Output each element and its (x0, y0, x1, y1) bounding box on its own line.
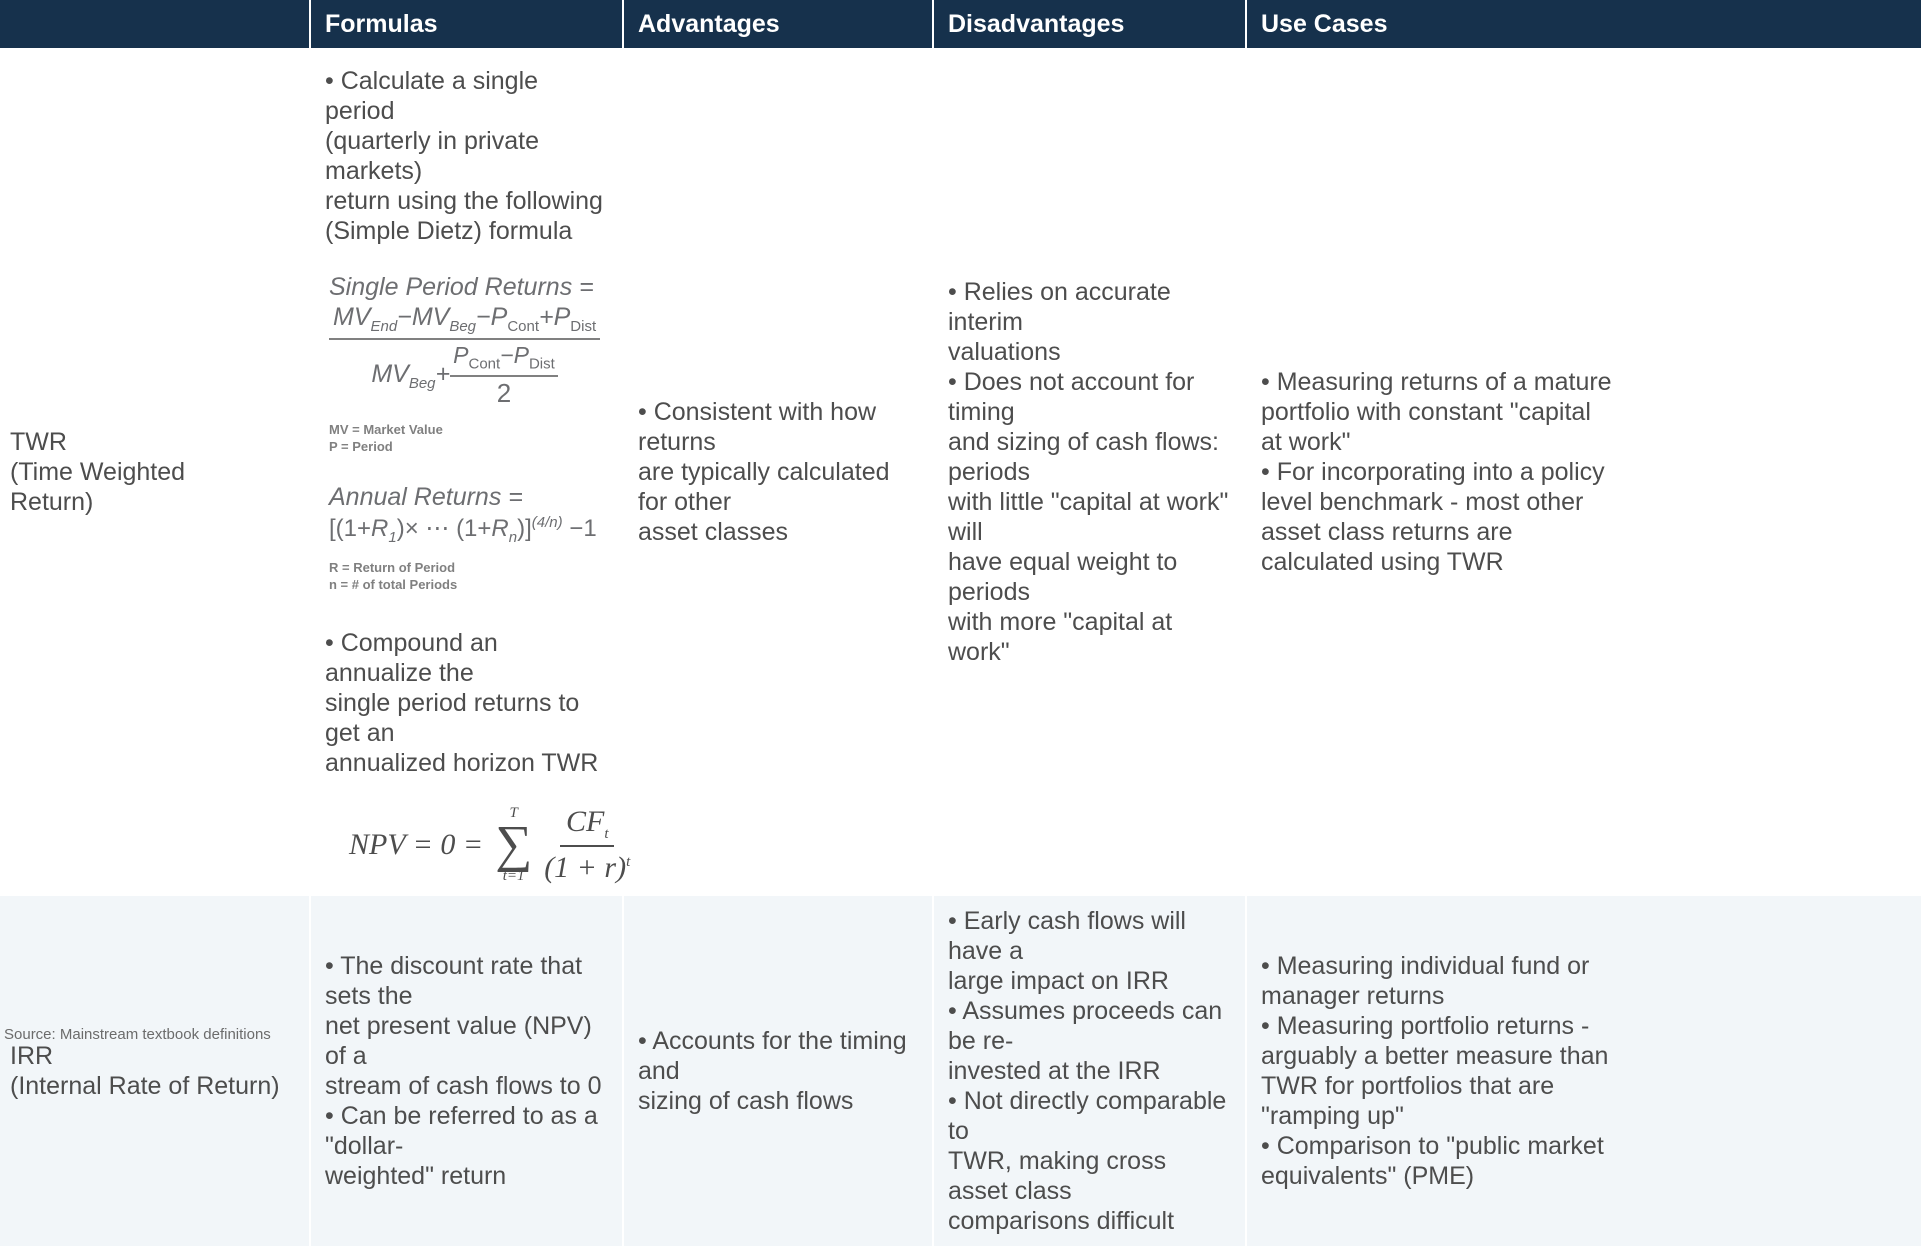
simple-dietz-legend: MV = Market Value P = Period (329, 421, 608, 456)
npv-lead: NPV = 0 = (349, 827, 483, 863)
npv-lower-limit: t=1 (503, 869, 525, 884)
num-plus: + (539, 303, 554, 331)
header-cell-use-cases: Use Cases (1246, 0, 1921, 48)
table-row-twr: TWR (Time Weighted Return) • Calculate a… (0, 48, 1921, 896)
num-minus-2: − (476, 303, 491, 331)
npv-denom-base: (1 + r) (544, 851, 626, 884)
p-cont-sub: Cont (507, 318, 539, 335)
den-plus: + (436, 360, 451, 388)
comparison-table: Formulas Advantages Disadvantages Use Ca… (0, 0, 1921, 1246)
inner-p-dist-base: P (514, 342, 529, 368)
cell-twr-advantages: • Consistent with how returns are typica… (623, 48, 933, 896)
ar-r1-base: R (371, 515, 388, 542)
cell-irr-advantages: • Accounts for the timing and sizing of … (623, 896, 933, 1246)
npv-summation: T ∑ t=1 (495, 806, 532, 884)
simple-dietz-inner-fraction: PCont−PDist 2 (450, 342, 558, 409)
formula-simple-dietz: Single Period Returns = MVEnd−MVBeg−PCon… (329, 272, 608, 456)
row-label-irr: IRR (Internal Rate of Return) (0, 896, 310, 1246)
ar-rn-sub: n (509, 529, 517, 546)
table-row-irr: IRR (Internal Rate of Return) • The disc… (0, 896, 1921, 1246)
cell-twr-formulas: • Calculate a single period (quarterly i… (310, 48, 623, 896)
source-footnote: Source: Mainstream textbook definitions (4, 1026, 271, 1043)
cell-irr-disadvantages: • Early cash flows will have a large imp… (933, 896, 1246, 1246)
annual-returns-expression: [(1+R1)× ⋯ (1+Rn)](4/n) −1 (329, 514, 608, 547)
simple-dietz-numerator: MVEnd−MVBeg−PCont+PDist (329, 302, 600, 340)
inner-minus: − (500, 342, 513, 368)
annual-returns-title: Annual Returns = (329, 482, 608, 512)
ar-open: [(1+ (329, 515, 371, 542)
npv-denominator: (1 + r)t (538, 847, 636, 886)
den-mv-sub: Beg (409, 375, 436, 392)
npv-denom-sup: t (626, 854, 630, 870)
den-mv-base: MV (371, 360, 409, 388)
annual-returns-legend: R = Return of Period n = # of total Peri… (329, 559, 608, 594)
inner-p-cont-base: P (453, 342, 468, 368)
formula-annual-returns: Annual Returns = [(1+R1)× ⋯ (1+Rn)](4/n)… (329, 482, 608, 594)
npv-numerator: CFt (560, 804, 615, 847)
simple-dietz-denominator: MVBeg+ PCont−PDist 2 (329, 340, 600, 409)
cell-twr-use-cases: • Measuring returns of a mature portfoli… (1246, 48, 1921, 896)
ar-r1-sub: 1 (388, 529, 396, 546)
cell-irr-formulas: • The discount rate that sets the net pr… (310, 896, 623, 1246)
p-dist-sub: Dist (570, 318, 596, 335)
slide-root: Formulas Advantages Disadvantages Use Ca… (0, 0, 1921, 1069)
header-cell-advantages: Advantages (623, 0, 933, 48)
simple-dietz-title: Single Period Returns = (329, 272, 608, 302)
num-minus-1: − (397, 303, 412, 331)
header-cell-label (0, 0, 310, 48)
row-label-twr: TWR (Time Weighted Return) (0, 48, 310, 896)
ar-close: )] (517, 515, 532, 542)
ar-mid: )× ⋯ (1+ (397, 515, 492, 542)
twr-formulas-outro: • Compound an annualize the single perio… (325, 628, 608, 778)
mv-end-sub: End (371, 318, 398, 335)
simple-dietz-title-text: Single Period Returns (329, 273, 572, 301)
table-header: Formulas Advantages Disadvantages Use Ca… (0, 0, 1921, 48)
header-cell-disadvantages: Disadvantages (933, 0, 1246, 48)
p-cont-base: P (491, 303, 508, 331)
mv-beg-sub: Beg (449, 318, 476, 335)
table-body: TWR (Time Weighted Return) • Calculate a… (0, 48, 1921, 1246)
inner-denominator: 2 (450, 377, 558, 409)
simple-dietz-equals: = (579, 273, 594, 301)
cell-twr-disadvantages: • Relies on accurate interim valuations … (933, 48, 1246, 896)
p-dist-base: P (554, 303, 571, 331)
sigma-icon: ∑ (495, 821, 532, 869)
header-cell-formulas: Formulas (310, 0, 623, 48)
formula-npv: NPV = 0 = T ∑ t=1 CFt (1 + r)t (349, 804, 608, 886)
ar-tail: −1 (569, 515, 596, 542)
mv-end-base: MV (333, 303, 371, 331)
cell-irr-use-cases: • Measuring individual fund or manager r… (1246, 896, 1921, 1246)
twr-formulas-intro: • Calculate a single period (quarterly i… (325, 66, 608, 246)
npv-cf: CF (566, 805, 604, 838)
simple-dietz-fraction: MVEnd−MVBeg−PCont+PDist MVBeg+ PCont−PDi… (329, 302, 600, 409)
inner-p-dist-sub: Dist (529, 356, 555, 373)
npv-fraction: CFt (1 + r)t (538, 804, 636, 886)
npv-cf-sub: t (604, 826, 608, 842)
ar-rn-base: R (491, 515, 508, 542)
inner-p-cont-sub: Cont (468, 356, 500, 373)
ar-exponent: (4/n) (532, 514, 563, 531)
header-row: Formulas Advantages Disadvantages Use Ca… (0, 0, 1921, 48)
mv-beg-base: MV (412, 303, 450, 331)
inner-numerator: PCont−PDist (450, 342, 558, 377)
